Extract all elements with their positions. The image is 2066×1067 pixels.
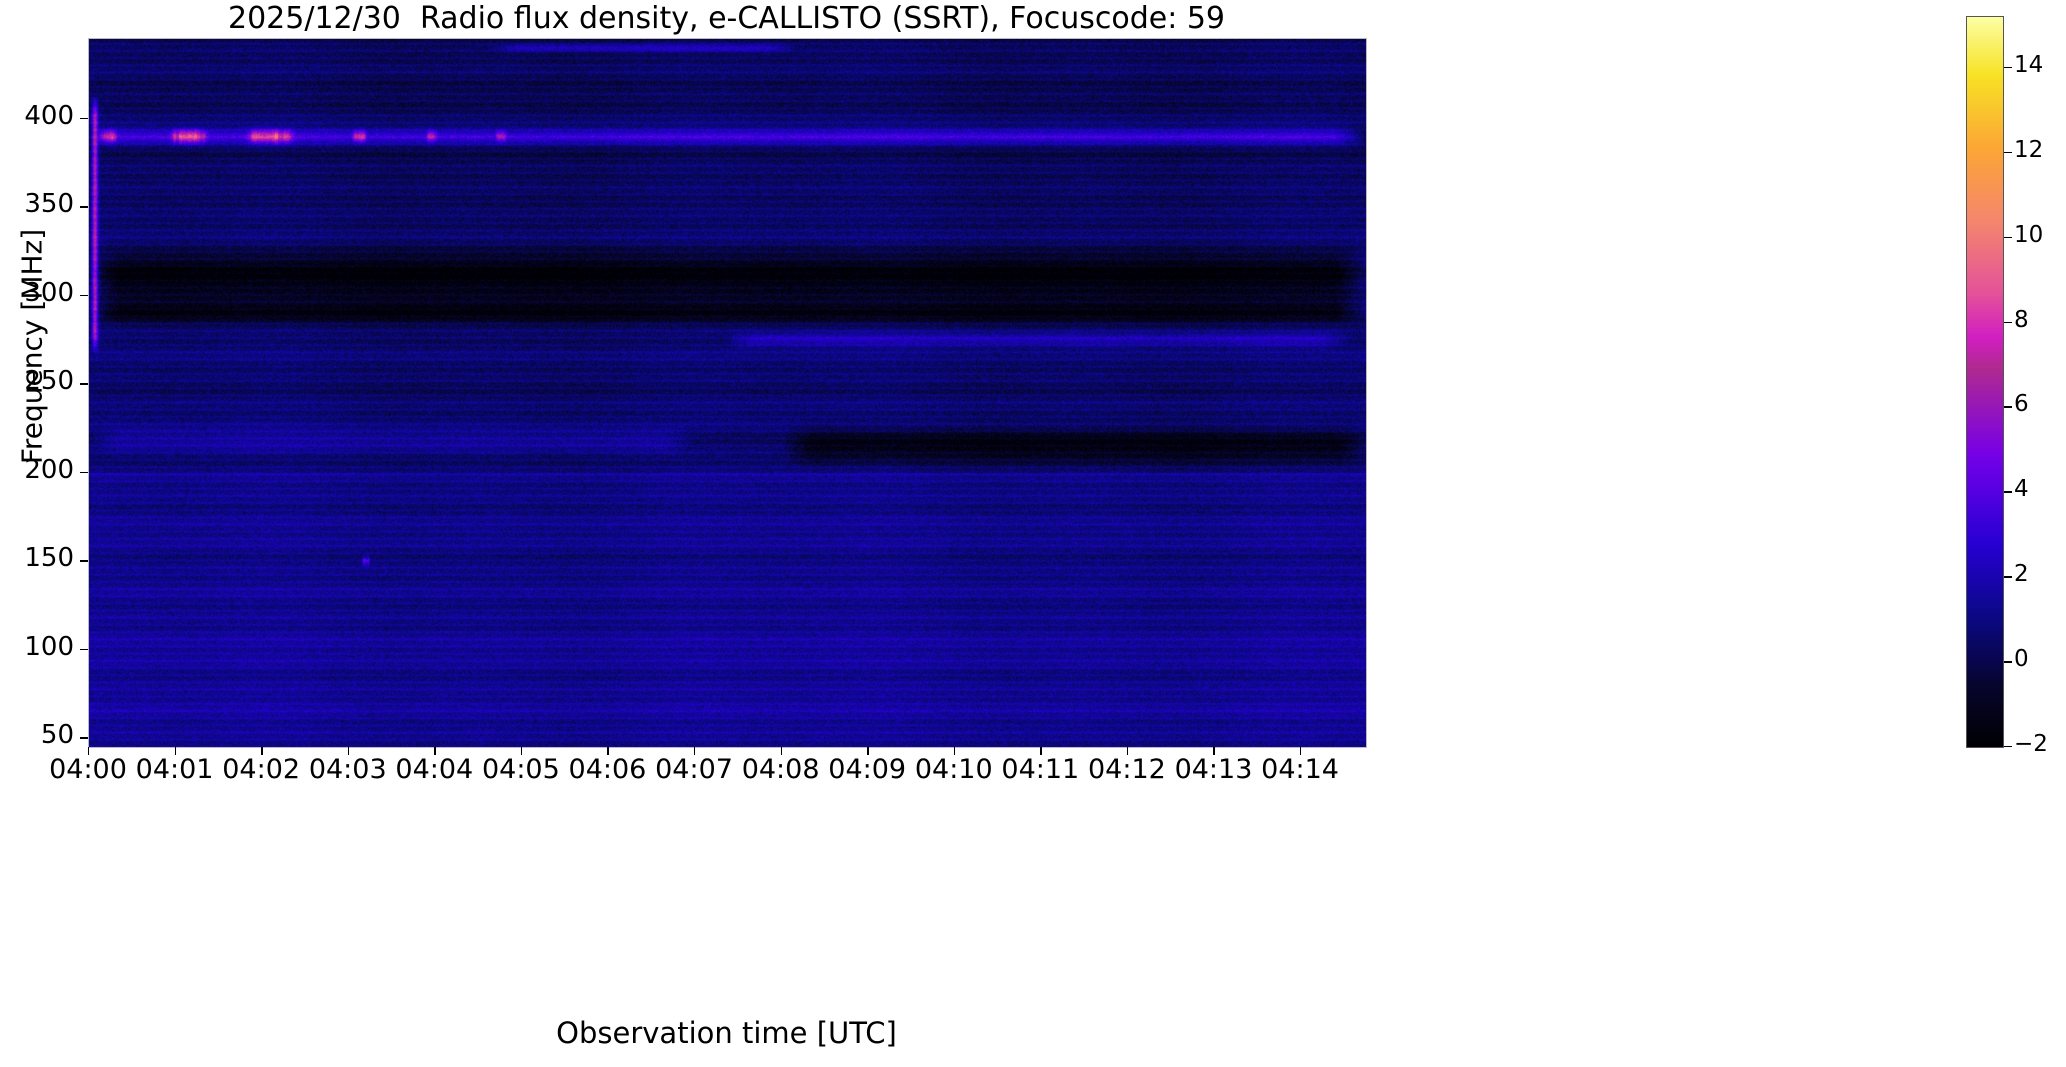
y-tick-mark — [80, 472, 88, 473]
colorbar-tick-mark — [2004, 237, 2012, 238]
x-tick-mark — [434, 747, 435, 755]
colorbar-tick-label: 12 — [2014, 137, 2043, 163]
x-tick-mark — [867, 747, 868, 755]
y-tick-label: 350 — [24, 189, 74, 219]
x-tick-label: 04:14 — [1240, 754, 1360, 785]
x-tick-mark — [88, 747, 89, 755]
x-tick-mark — [781, 747, 782, 755]
colorbar-tick-label: −2 — [2014, 731, 2048, 757]
colorbar-tick-label: 0 — [2014, 646, 2029, 672]
y-tick-label: 250 — [24, 366, 74, 396]
y-tick-label: 300 — [24, 278, 74, 308]
y-tick-mark — [80, 560, 88, 561]
y-tick-label: 150 — [24, 543, 74, 573]
colorbar-tick-label: 8 — [2014, 307, 2029, 333]
x-tick-mark — [607, 747, 608, 755]
y-tick-mark — [80, 295, 88, 296]
colorbar-axes[interactable] — [1966, 16, 2004, 748]
colorbar-tick-mark — [2004, 152, 2012, 153]
y-tick-label: 100 — [24, 632, 74, 662]
colorbar-tick-label: 14 — [2014, 52, 2043, 78]
spectrogram-image[interactable] — [89, 39, 1366, 747]
colorbar-tick-mark — [2004, 746, 2012, 747]
x-tick-mark — [1040, 747, 1041, 755]
x-tick-mark — [175, 747, 176, 755]
y-tick-label: 200 — [24, 455, 74, 485]
x-axis-label: Observation time [UTC] — [88, 1016, 1365, 1050]
colorbar-gradient[interactable] — [1967, 17, 2003, 747]
colorbar-tick-mark — [2004, 67, 2012, 68]
x-tick-mark — [348, 747, 349, 755]
x-tick-mark — [521, 747, 522, 755]
colorbar-tick-mark — [2004, 491, 2012, 492]
x-tick-mark — [1127, 747, 1128, 755]
page-title: 2025/12/30 Radio flux density, e-CALLIST… — [88, 2, 1365, 36]
y-tick-mark — [80, 383, 88, 384]
x-tick-mark — [954, 747, 955, 755]
y-tick-mark — [80, 118, 88, 119]
colorbar-tick-label: 10 — [2014, 222, 2043, 248]
colorbar-tick-mark — [2004, 661, 2012, 662]
colorbar-tick-mark — [2004, 322, 2012, 323]
colorbar-tick-label: 6 — [2014, 391, 2029, 417]
colorbar-tick-mark — [2004, 406, 2012, 407]
colorbar-tick-mark — [2004, 576, 2012, 577]
x-tick-mark — [1213, 747, 1214, 755]
x-tick-mark — [694, 747, 695, 755]
colorbar-tick-label: 4 — [2014, 476, 2029, 502]
y-tick-mark — [80, 649, 88, 650]
y-tick-label: 400 — [24, 101, 74, 131]
y-tick-mark — [80, 206, 88, 207]
x-tick-mark — [1300, 747, 1301, 755]
y-tick-label: 50 — [41, 720, 74, 750]
y-tick-mark — [80, 737, 88, 738]
figure-canvas: 2025/12/30 Radio flux density, e-CALLIST… — [0, 0, 2066, 1067]
spectrogram-axes[interactable] — [88, 38, 1367, 748]
colorbar-tick-label: 2 — [2014, 561, 2029, 587]
x-tick-mark — [261, 747, 262, 755]
